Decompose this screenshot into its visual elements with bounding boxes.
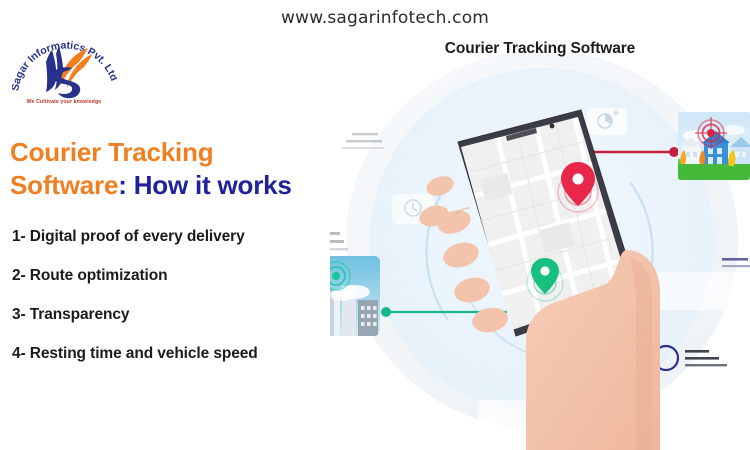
illustration-title: Courier Tracking Software bbox=[330, 40, 750, 58]
decor-lines-left-small bbox=[330, 232, 348, 250]
list-item: 2- Route optimization bbox=[12, 267, 342, 285]
logo-mark-icon: Sagar Informatics Pvt. Ltd. We Cultivate… bbox=[12, 24, 117, 109]
tracking-illustration: Courier Tracking Software bbox=[330, 0, 750, 450]
feature-list: 1- Digital proof of every delivery 2- Ro… bbox=[12, 228, 342, 384]
title-line-2-orange: Software bbox=[10, 170, 118, 200]
list-item: 1- Digital proof of every delivery bbox=[12, 228, 342, 246]
svg-text:We Cultivate your knowledge: We Cultivate your knowledge bbox=[27, 99, 102, 105]
page-title: Courier Tracking Software: How it works bbox=[10, 136, 340, 203]
title-line-1: Courier Tracking bbox=[10, 137, 213, 167]
list-item: 3- Transparency bbox=[12, 306, 342, 324]
list-item: 4- Resting time and vehicle speed bbox=[12, 345, 342, 363]
title-line-2-blue: How it works bbox=[134, 170, 292, 200]
illustration-canvas bbox=[330, 0, 750, 450]
poster-canvas: www.sagarinfotech.com Sagar Informatics … bbox=[0, 0, 750, 450]
company-logo: Sagar Informatics Pvt. Ltd. We Cultivate… bbox=[12, 24, 117, 109]
city-card bbox=[330, 256, 380, 336]
title-colon: : bbox=[118, 170, 126, 200]
analytics-bubble-card bbox=[587, 108, 627, 135]
neighborhood-card bbox=[678, 112, 750, 180]
